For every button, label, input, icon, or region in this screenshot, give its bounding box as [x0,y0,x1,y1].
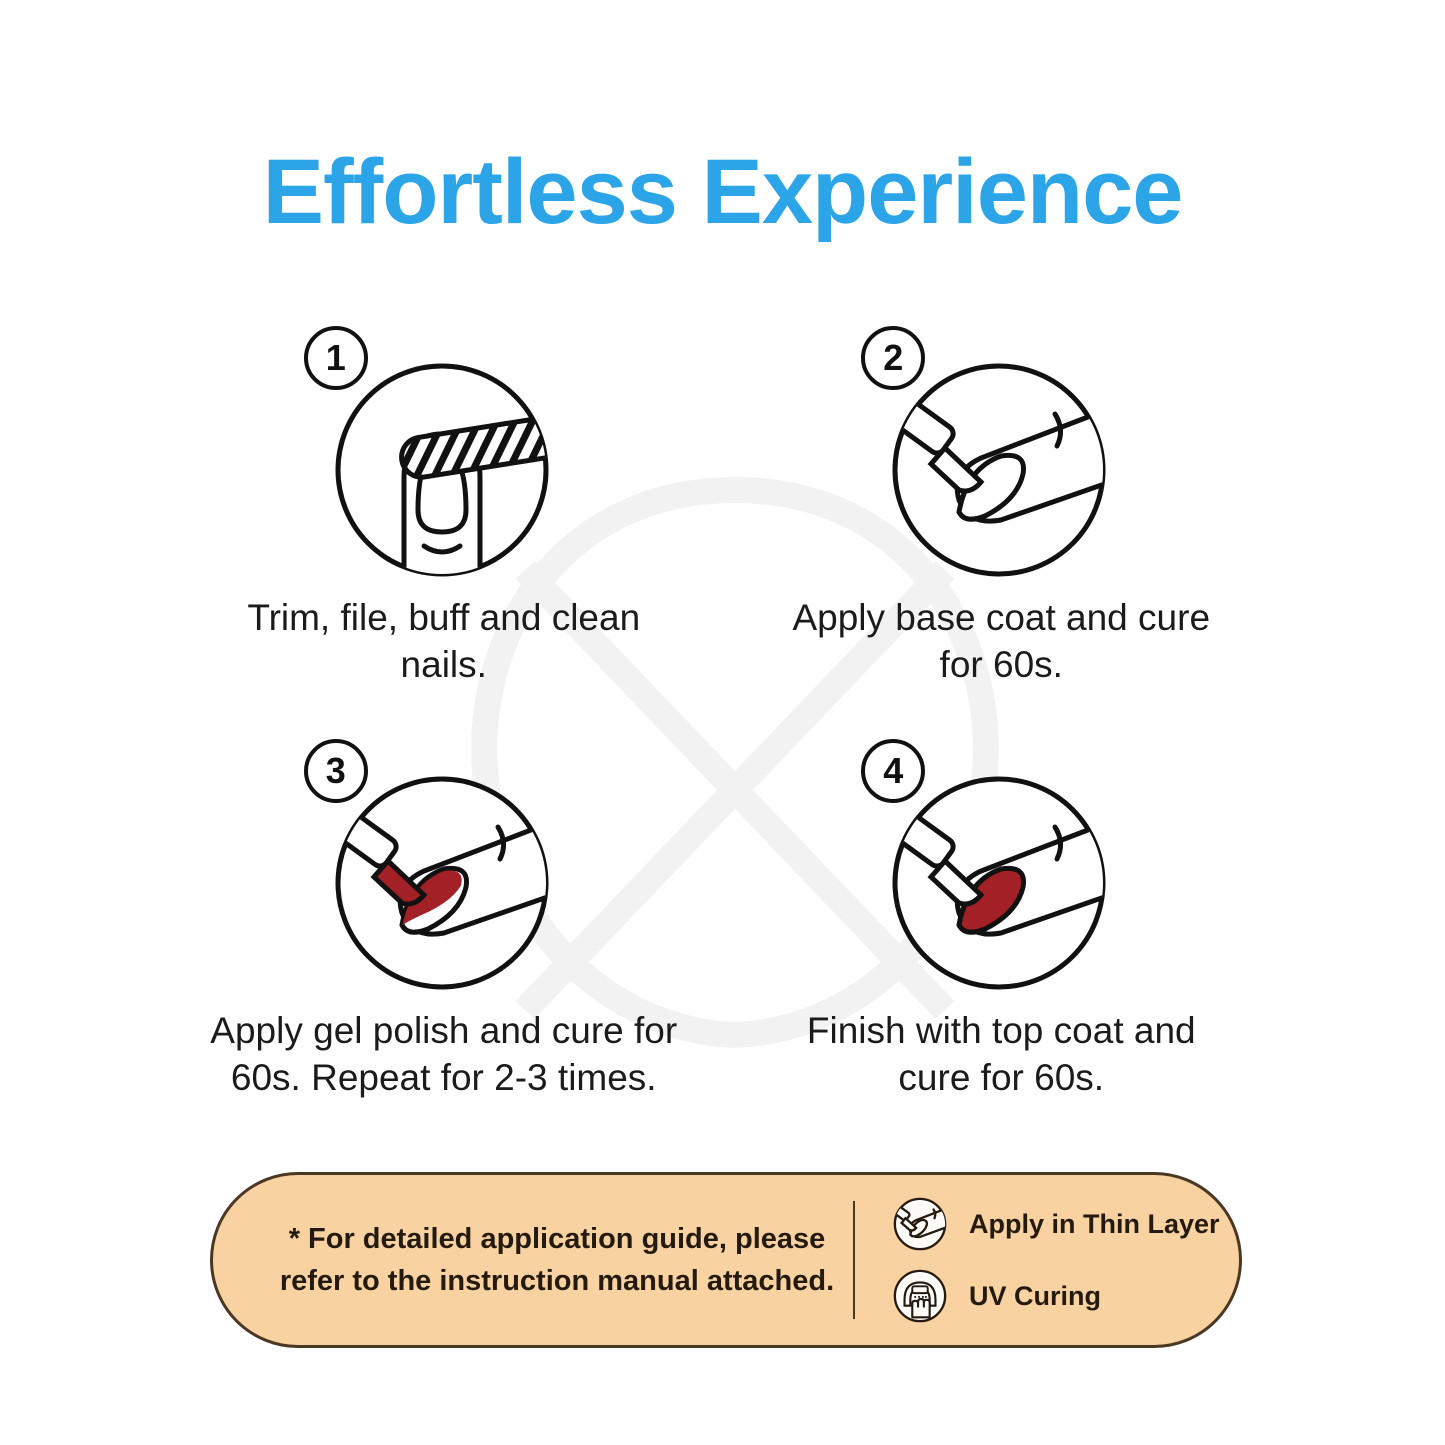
page-title: Effortless Experience [0,140,1445,245]
instruction-infographic: Effortless Experience 1 [0,0,1445,1445]
step-3: 3 Apply gel polish an [165,731,723,1102]
step-1-caption: Trim, file, buff and clean nails. [209,594,679,689]
badge-label-uv-curing: UV Curing [969,1281,1101,1312]
badge-uv-curing: UV Curing [891,1267,1239,1325]
brush-gel-polish-partial-icon [332,773,552,993]
badge-apply-thin-layer: Apply in Thin Layer [891,1195,1239,1253]
instruction-manual-banner: * For detailed application guide, please… [210,1172,1242,1348]
step-2: 2 Apply [723,318,1281,689]
nail-file-on-finger-icon [332,360,552,580]
step-4-badge: 4 [861,739,925,803]
thin-layer-brush-icon [891,1195,949,1253]
step-3-caption: Apply gel polish and cure for 60s. Repea… [209,1007,679,1102]
uv-lamp-curing-icon [891,1267,949,1325]
step-1-badge: 1 [304,326,368,390]
brush-base-coat-icon [889,360,1109,580]
step-4-caption: Finish with top coat and cure for 60s. [766,1007,1236,1102]
banner-note-text: * For detailed application guide, please… [213,1218,853,1302]
step-1-illustration-wrap: 1 [294,318,594,580]
step-2-badge: 2 [861,326,925,390]
banner-badge-list: Apply in Thin Layer [855,1195,1239,1325]
step-4: 4 Finish with top coat and cure fo [723,731,1281,1102]
badge-label-thin-layer: Apply in Thin Layer [969,1209,1220,1240]
step-3-illustration-wrap: 3 [294,731,594,993]
step-1: 1 [165,318,723,689]
step-3-badge: 3 [304,739,368,803]
steps-grid: 1 [165,318,1280,1101]
step-2-illustration-wrap: 2 [851,318,1151,580]
brush-top-coat-full-icon [889,773,1109,993]
step-2-caption: Apply base coat and cure for 60s. [766,594,1236,689]
step-4-illustration-wrap: 4 [851,731,1151,993]
